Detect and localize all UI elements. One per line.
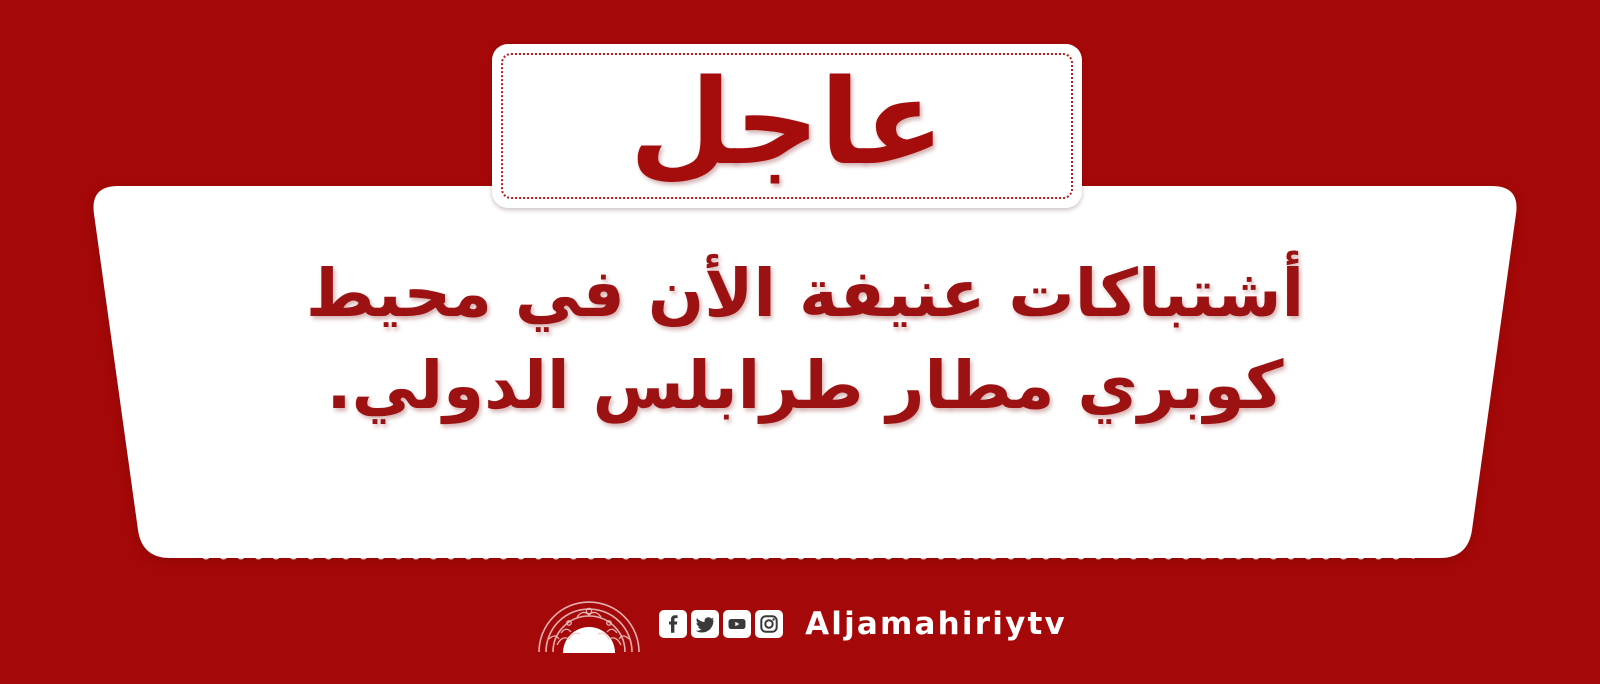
social-handle: Aljamahiriytv	[805, 606, 1067, 642]
breaking-news-card: عاجل أشتباكات عنيفة الأن في محيط كوبري م…	[0, 0, 1600, 684]
facebook-icon[interactable]	[659, 610, 687, 638]
instagram-icon[interactable]	[755, 610, 783, 638]
aljamahiriya-arch-ornament-icon	[533, 595, 645, 653]
social-icons	[659, 610, 783, 638]
urgent-badge: عاجل	[492, 44, 1082, 208]
footer-branding: Aljamahiriytv	[0, 588, 1600, 660]
urgent-badge-label: عاجل	[492, 44, 1082, 208]
youtube-icon[interactable]	[723, 610, 751, 638]
twitter-icon[interactable]	[691, 610, 719, 638]
headline: أشتباكات عنيفة الأن في محيط كوبري مطار ط…	[200, 248, 1410, 433]
headline-line-2: كوبري مطار طرابلس الدولي.	[200, 340, 1410, 432]
headline-line-1: أشتباكات عنيفة الأن في محيط	[200, 248, 1410, 340]
